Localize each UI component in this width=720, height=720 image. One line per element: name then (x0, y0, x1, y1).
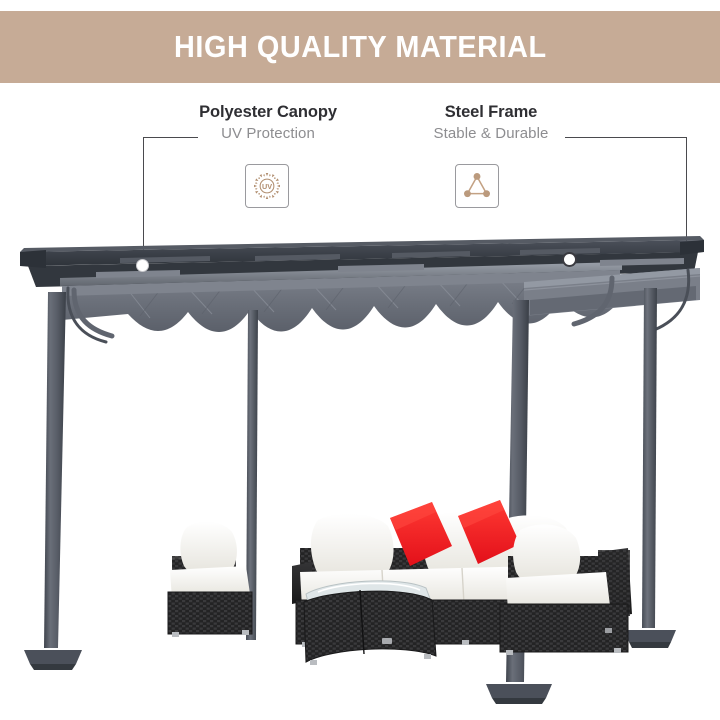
frame-joint-point-marker (562, 252, 577, 267)
rattan-sofa-set (168, 500, 632, 665)
furniture-curved-coffee-table (304, 581, 436, 665)
pergola-post-4 (624, 288, 676, 648)
bottom-spacer (0, 710, 720, 720)
furniture-right-corner-chair (500, 524, 632, 655)
furniture-left-chair (168, 522, 252, 637)
product-illustration (0, 0, 720, 720)
canopy-attachment-point-marker (136, 259, 149, 272)
pergola-post-1 (24, 292, 82, 670)
